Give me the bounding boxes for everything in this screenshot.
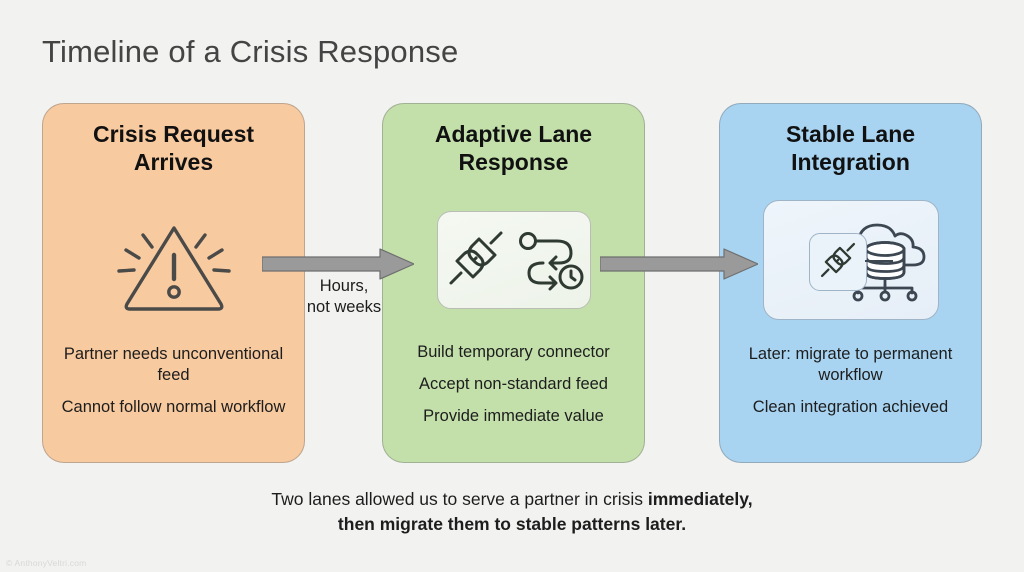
caption-line-2-bold: then migrate them to stable patterns lat… — [338, 514, 686, 534]
watermark: © AnthonyVeltri.com — [6, 558, 86, 568]
winding-path-clock-icon — [515, 225, 585, 296]
caption: Two lanes allowed us to serve a partner … — [0, 487, 1024, 538]
bullet-item: Partner needs unconventional feed — [42, 344, 305, 386]
bullet-item: Cannot follow normal workflow — [42, 397, 305, 418]
plug-connector-icon — [443, 225, 509, 296]
caption-line-1-normal: Two lanes allowed us to serve a partner … — [271, 489, 647, 509]
icon-zone-adaptive — [382, 196, 645, 324]
icon-zone-stable — [719, 196, 982, 324]
bullet-item: Clean integration achieved — [719, 397, 982, 418]
stable-icon-panel — [763, 200, 939, 320]
connector-line — [865, 260, 893, 262]
plug-connector-icon — [817, 239, 859, 286]
warning-triangle-icon — [99, 199, 249, 322]
caption-line-1-bold: immediately, — [648, 489, 753, 509]
bullets-stable: Later: migrate to permanent workflow Cle… — [719, 344, 982, 417]
page-title: Timeline of a Crisis Response — [42, 34, 458, 70]
bullet-item: Accept non-standard feed — [382, 374, 645, 395]
card-title: Stable Lane Integration — [736, 120, 966, 176]
icon-zone-crisis — [42, 196, 305, 324]
bullets-adaptive: Build temporary connector Accept non-sta… — [382, 342, 645, 426]
slide-canvas: Timeline of a Crisis Response Crisis Req… — [0, 0, 1024, 572]
caption-line-1: Two lanes allowed us to serve a partner … — [0, 487, 1024, 512]
bullet-item: Later: migrate to permanent workflow — [719, 344, 982, 386]
bullets-crisis: Partner needs unconventional feed Cannot… — [42, 344, 305, 417]
adaptive-icon-panel — [437, 211, 591, 309]
card-title: Adaptive Lane Response — [399, 120, 629, 176]
mini-plug-box — [809, 233, 867, 291]
bullet-item: Provide immediate value — [382, 406, 645, 427]
bullet-item: Build temporary connector — [382, 342, 645, 363]
arrow-label-hours-not-weeks: Hours, not weeks — [306, 276, 382, 319]
caption-line-2: then migrate them to stable patterns lat… — [0, 512, 1024, 537]
card-title: Crisis Request Arrives — [59, 120, 289, 176]
